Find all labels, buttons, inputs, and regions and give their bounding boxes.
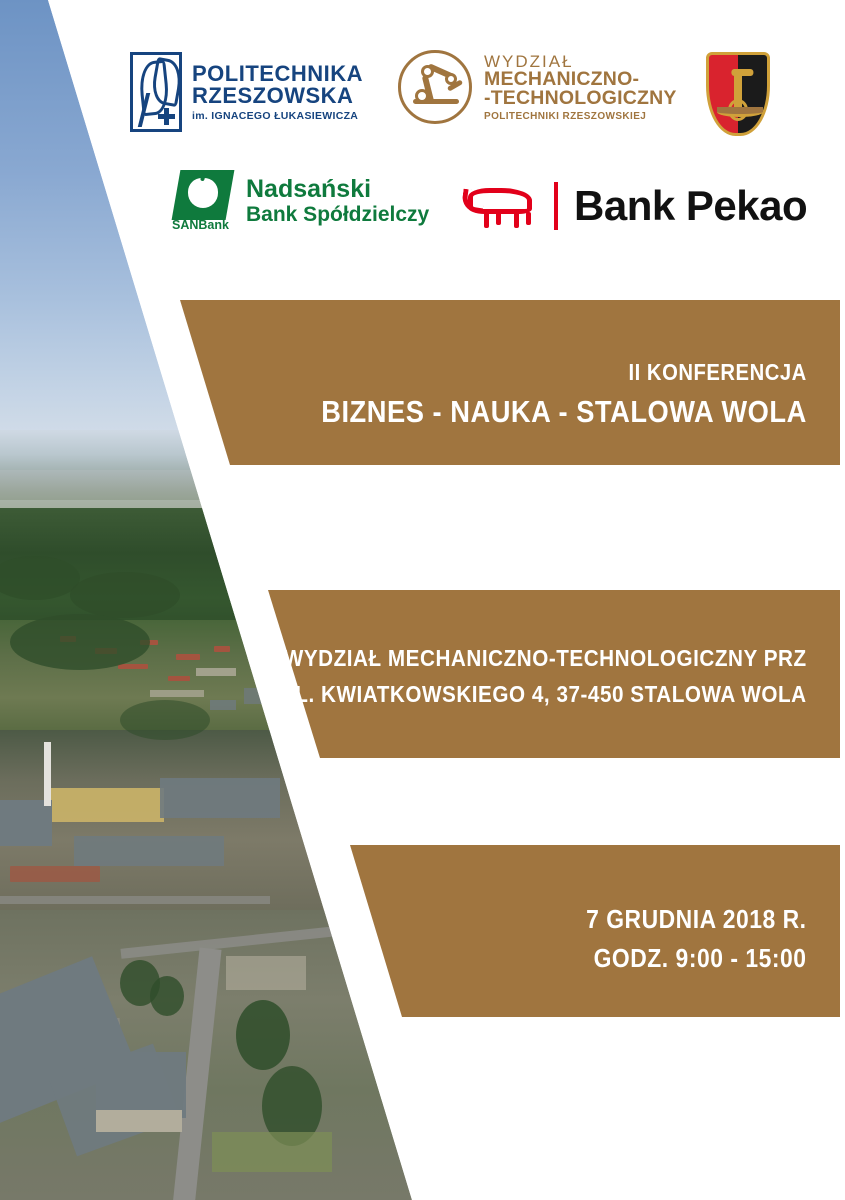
pr-monogram-icon xyxy=(130,52,182,132)
politechnika-line1: POLITECHNIKA xyxy=(192,63,363,85)
logo-nadsanski-bank-spoldzielczy: SANBank Nadsański Bank Spółdzielczy xyxy=(172,170,429,232)
event-time: GODZ. 9:00 - 15:00 xyxy=(587,942,807,974)
banner-venue-address: WYDZIAŁ MECHANICZNO-TECHNOLOGICZNY PRZ U… xyxy=(0,590,845,770)
heraldic-shield-icon xyxy=(706,52,770,136)
venue-street: UL. KWIATKOWSKIEGO 4, 37-450 STALOWA WOL… xyxy=(280,680,807,709)
pekao-divider-bar xyxy=(554,182,558,230)
banner-date-time: 7 GRUDNIA 2018 R. GODZ. 9:00 - 15:00 xyxy=(0,845,845,1030)
event-date: 7 GRUDNIA 2018 R. xyxy=(587,903,807,935)
wydzial-line4: POLITECHNIKI RZESZOWSKIEJ xyxy=(484,112,677,122)
conference-edition: II KONFERENCJA xyxy=(321,358,807,387)
bison-icon xyxy=(462,182,540,230)
conference-poster: POLITECHNIKA RZESZOWSKA im. IGNACEGO ŁUK… xyxy=(0,0,845,1200)
logo-heraldic-shield xyxy=(706,52,770,136)
politechnika-line3: im. IGNACEGO ŁUKASIEWICZA xyxy=(192,111,363,122)
logo-politechnika-rzeszowska: POLITECHNIKA RZESZOWSKA im. IGNACEGO ŁUK… xyxy=(130,52,363,132)
wydzial-line3: -TECHNOLOGICZNY xyxy=(484,89,677,109)
pekao-wordmark: Bank Pekao xyxy=(574,182,807,230)
cross-icon xyxy=(158,108,175,125)
politechnika-line2: RZESZOWSKA xyxy=(192,85,363,107)
logo-wydzial-mechaniczno-technologiczny: WYDZIAŁ MECHANICZNO- -TECHNOLOGICZNY POL… xyxy=(398,50,677,124)
conference-name: BIZNES - NAUKA - STALOWA WOLA xyxy=(321,393,807,431)
nadsanski-line1: Nadsański xyxy=(246,175,429,203)
wydzial-line1: WYDZIAŁ xyxy=(484,53,677,70)
sanbank-badge: SANBank xyxy=(172,218,229,232)
apple-sanbank-icon: SANBank xyxy=(172,170,234,232)
nadsanski-line2: Bank Spółdzielczy xyxy=(246,203,429,227)
sponsor-logos: POLITECHNIKA RZESZOWSKA im. IGNACEGO ŁUK… xyxy=(0,0,845,270)
robot-arm-icon xyxy=(398,50,472,124)
logo-bank-pekao: Bank Pekao xyxy=(462,182,807,230)
venue-faculty: WYDZIAŁ MECHANICZNO-TECHNOLOGICZNY PRZ xyxy=(280,644,807,673)
banner-conference-title: II KONFERENCJA BIZNES - NAUKA - STALOWA … xyxy=(0,300,845,480)
